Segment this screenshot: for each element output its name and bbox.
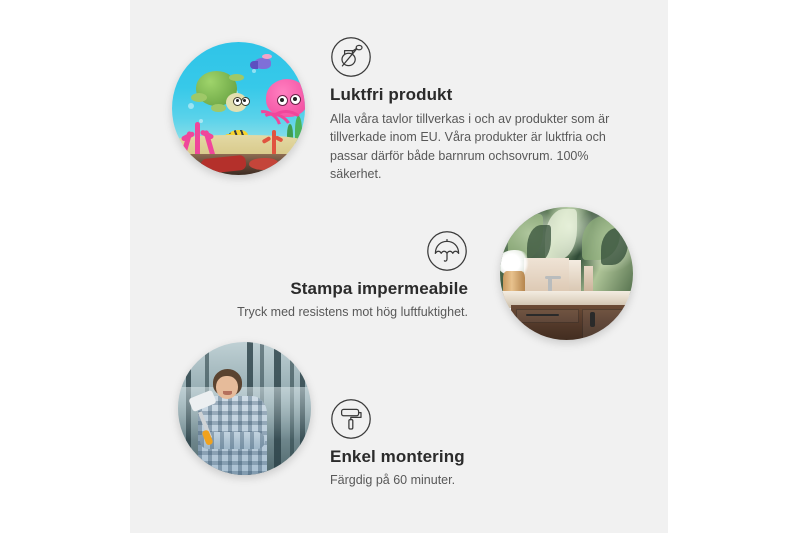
feature-body: Tryck med resistens mot hög luftfuktighe… (168, 303, 468, 321)
paint-roller-icon (330, 398, 372, 440)
turtle-figure (191, 71, 252, 116)
bathroom-vanity (511, 305, 633, 340)
feature-body: Färgdig på 60 minuter. (330, 471, 620, 489)
feature-body: Alla våra tavlor tillverkas i och av pro… (330, 110, 622, 183)
feature-title: Luktfri produkt (330, 84, 630, 105)
feature-title: Enkel montering (330, 446, 620, 467)
photo-painter (178, 342, 311, 475)
promo-banner: Luktfri produkt Alla våra tavlor tillver… (0, 0, 800, 533)
no-odor-spray-bottle-icon (330, 36, 372, 78)
feature-odorless: Luktfri produkt Alla våra tavlor tillver… (330, 36, 630, 183)
umbrella-icon (426, 230, 468, 272)
painter-person (191, 369, 273, 475)
feature-waterproof: Stampa impermeabile Tryck med resistens … (168, 230, 468, 321)
feature-mounting: Enkel montering Färgdig på 60 minuter. (330, 398, 620, 489)
feature-title: Stampa impermeabile (168, 278, 468, 299)
photo-underwater (172, 42, 305, 175)
photo-bathroom (500, 207, 633, 340)
